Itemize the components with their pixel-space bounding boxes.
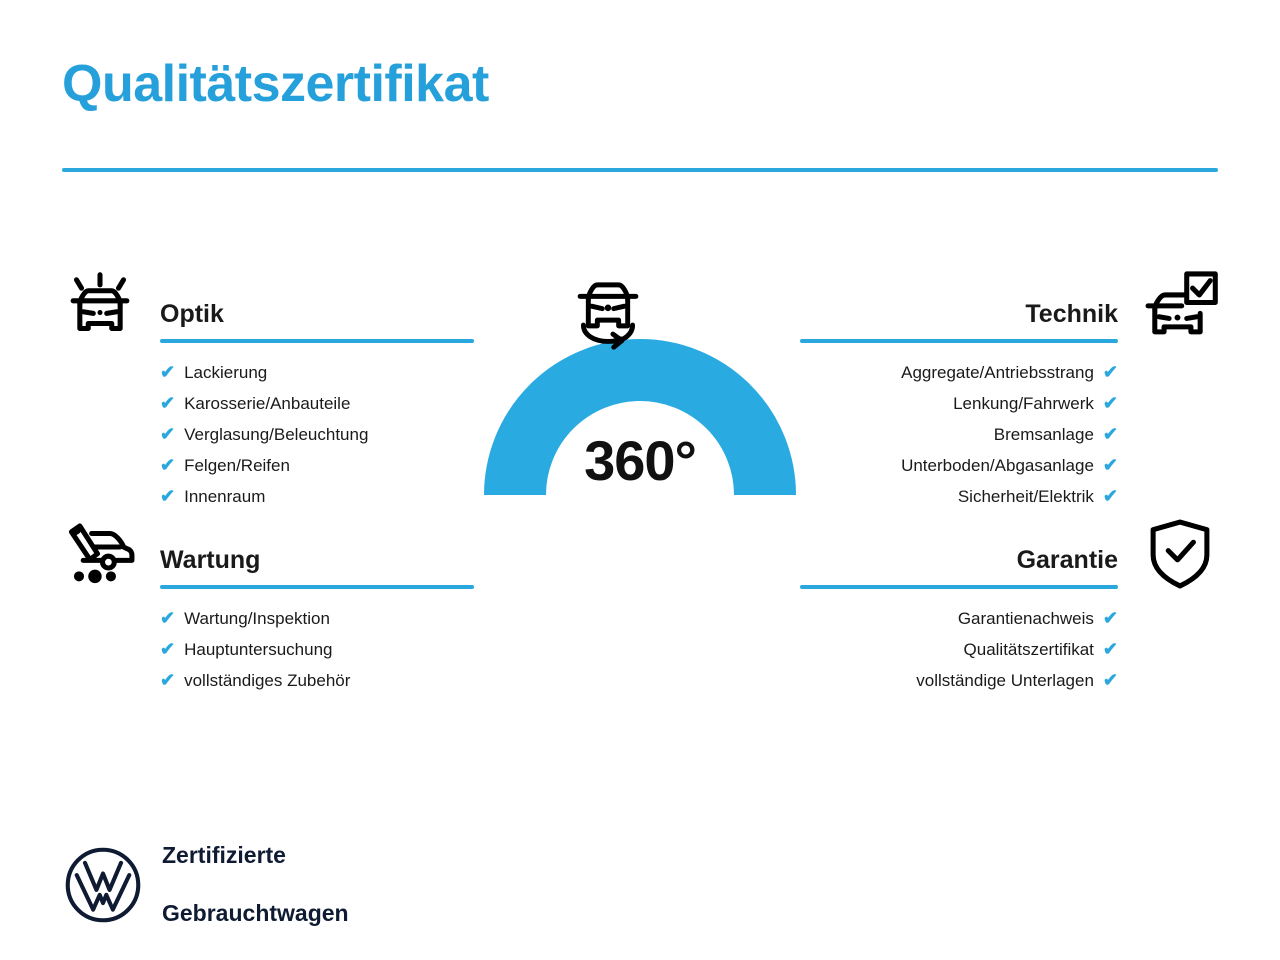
check-icon: ✔: [160, 450, 175, 480]
list-item-label: Lenkung/Fahrwerk: [953, 389, 1094, 419]
section-garantie: Garantie Garantienachweis✔ Qualitätszert…: [800, 543, 1118, 696]
check-icon: ✔: [160, 481, 175, 511]
check-icon: ✔: [160, 603, 175, 633]
car-checkbox-icon: [1138, 263, 1222, 347]
list-item-label: Bremsanlage: [994, 420, 1094, 450]
list-item: Bremsanlage✔: [800, 419, 1118, 450]
list-item: ✔Wartung/Inspektion: [160, 603, 474, 634]
list-item-label: Verglasung/Beleuchtung: [184, 420, 368, 450]
list-item: ✔Hauptuntersuchung: [160, 634, 474, 665]
check-icon: ✔: [1103, 603, 1118, 633]
car-shine-icon: [58, 263, 142, 347]
list-item: Lenkung/Fahrwerk✔: [800, 388, 1118, 419]
section-wartung-header: Wartung: [160, 543, 474, 589]
list-item: Unterboden/Abgasanlage✔: [800, 450, 1118, 481]
list-item-label: Aggregate/Antriebsstrang: [901, 358, 1094, 388]
check-icon: ✔: [160, 357, 175, 387]
list-item-label: vollständiges Zubehör: [184, 666, 350, 696]
check-icon: ✔: [160, 634, 175, 664]
section-wartung-title: Wartung: [160, 543, 474, 577]
check-icon: ✔: [160, 388, 175, 418]
list-item: ✔Lackierung: [160, 357, 474, 388]
list-item-label: Wartung/Inspektion: [184, 604, 330, 634]
section-technik-header: Technik: [800, 297, 1118, 343]
car-service-tool-icon: [58, 510, 142, 594]
check-icon: ✔: [1103, 634, 1118, 664]
section-optik-title: Optik: [160, 297, 474, 331]
check-icon: ✔: [160, 419, 175, 449]
car-rotate-360-icon: [580, 285, 636, 347]
check-icon: ✔: [1103, 481, 1118, 511]
section-optik: Optik ✔Lackierung ✔Karosserie/Anbauteile…: [160, 297, 474, 512]
list-item: ✔Karosserie/Anbauteile: [160, 388, 474, 419]
check-icon: ✔: [1103, 665, 1118, 695]
list-item-label: vollständige Unterlagen: [916, 666, 1094, 696]
list-item-label: Sicherheit/Elektrik: [958, 482, 1094, 512]
check-icon: ✔: [160, 665, 175, 695]
section-garantie-title: Garantie: [800, 543, 1118, 577]
footer-line-1: Zertifizierte: [162, 841, 349, 870]
360-gebrauchtwagen-check-badge: Gebrauchtwagen-Check 360°: [455, 245, 825, 640]
shield-check-icon: [1138, 512, 1222, 596]
check-icon: ✔: [1103, 450, 1118, 480]
section-technik-title: Technik: [800, 297, 1118, 331]
badge-number: 360°: [455, 428, 825, 493]
list-item: ✔Innenraum: [160, 481, 474, 512]
list-item: vollständige Unterlagen✔: [800, 665, 1118, 696]
section-wartung-list: ✔Wartung/Inspektion ✔Hauptuntersuchung ✔…: [160, 603, 474, 696]
list-item-label: Unterboden/Abgasanlage: [901, 451, 1094, 481]
section-wartung-divider: [160, 585, 474, 589]
list-item: ✔vollständiges Zubehör: [160, 665, 474, 696]
footer-line-2: Gebrauchtwagen: [162, 899, 349, 928]
list-item-label: Lackierung: [184, 358, 267, 388]
check-icon: ✔: [1103, 419, 1118, 449]
list-item-label: Innenraum: [184, 482, 265, 512]
footer-brand: Zertifizierte Gebrauchtwagen: [62, 812, 349, 957]
list-item: ✔Felgen/Reifen: [160, 450, 474, 481]
list-item: Aggregate/Antriebsstrang✔: [800, 357, 1118, 388]
list-item: Garantienachweis✔: [800, 603, 1118, 634]
section-technik-list: Aggregate/Antriebsstrang✔ Lenkung/Fahrwe…: [800, 357, 1118, 512]
section-wartung: Wartung ✔Wartung/Inspektion ✔Hauptunters…: [160, 543, 474, 696]
title-divider: [62, 168, 1218, 172]
list-item-label: Karosserie/Anbauteile: [184, 389, 350, 419]
list-item: Sicherheit/Elektrik✔: [800, 481, 1118, 512]
section-garantie-list: Garantienachweis✔ Qualitätszertifikat✔ v…: [800, 603, 1118, 696]
list-item-label: Felgen/Reifen: [184, 451, 290, 481]
section-optik-header: Optik: [160, 297, 474, 343]
section-optik-list: ✔Lackierung ✔Karosserie/Anbauteile ✔Verg…: [160, 357, 474, 512]
check-icon: ✔: [1103, 357, 1118, 387]
footer-brand-text: Zertifizierte Gebrauchtwagen: [162, 812, 349, 957]
list-item: Qualitätszertifikat✔: [800, 634, 1118, 665]
list-item: ✔Verglasung/Beleuchtung: [160, 419, 474, 450]
list-item-label: Garantienachweis: [958, 604, 1094, 634]
badge-curved-label: Gebrauchtwagen-Check: [511, 514, 768, 627]
section-garantie-divider: [800, 585, 1118, 589]
section-technik-divider: [800, 339, 1118, 343]
section-optik-divider: [160, 339, 474, 343]
section-technik: Technik Aggregate/Antriebsstrang✔ Lenkun…: [800, 297, 1118, 512]
vw-logo-icon: [62, 844, 144, 926]
page-title: Qualitätszertifikat: [62, 58, 489, 110]
check-icon: ✔: [1103, 388, 1118, 418]
list-item-label: Hauptuntersuchung: [184, 635, 332, 665]
list-item-label: Qualitätszertifikat: [964, 635, 1094, 665]
section-garantie-header: Garantie: [800, 543, 1118, 589]
